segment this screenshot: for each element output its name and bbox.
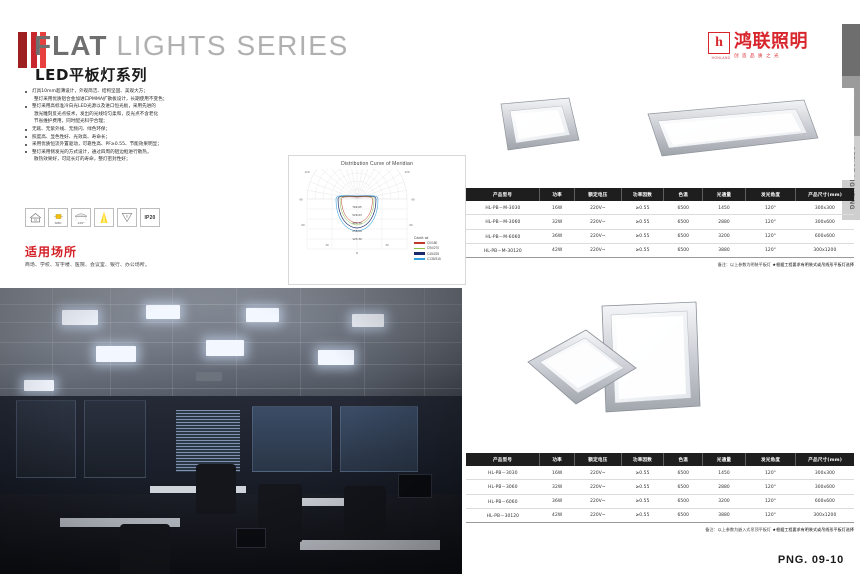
spec-icon-row: SMD 120° V IP20: [25, 208, 160, 227]
table-row: HL-PB－M-30120 42W 220V~ ≥0.55 6500 3880 …: [466, 244, 854, 258]
light-cone-icon: [94, 208, 114, 227]
col-model: 产品型号: [466, 188, 540, 201]
svg-text:762.65: 762.65: [352, 205, 362, 209]
logo-tagline: 创造品质之光: [734, 53, 808, 59]
feature-line-2: 散热效果好，可延长灯的寿命，整灯密封性好；: [32, 156, 272, 164]
col-power: 功率: [540, 188, 575, 201]
svg-text:30: 30: [325, 243, 329, 247]
table-row: HL-PB－M-6060 36W 220V~ ≥0.55 6500 3200 1…: [466, 229, 854, 243]
chart-unit-label: C/unit: cd: [414, 236, 460, 240]
cell-size: 600x600: [796, 494, 854, 508]
table-note: 备注：以上参数为明装平板灯 ★根据工程要求有明装式或吊线形平板灯选择: [466, 262, 854, 268]
cell-power: 36W: [540, 494, 575, 508]
feature-line-2: 整灯采用优质铝合金加进口PMMA扩散板设计，长期使用不变色；: [32, 96, 272, 104]
spec-table-top: 产品型号 功率 额定电压 功率因数 色温 光通量 发光角度 产品尺寸(mm) H…: [466, 188, 854, 268]
col-size: 产品尺寸(mm): [796, 453, 854, 466]
svg-text:123.30: 123.30: [352, 237, 362, 241]
table-header-row: 产品型号 功率 额定电压 功率因数 色温 光通量 发光角度 产品尺寸(mm): [466, 188, 854, 201]
cell-model: HL-PB－M-6060: [466, 229, 540, 243]
list-item: 灯具10mm超薄设计，外观简洁、结构坚固、美观大方； 整灯采用优质铝合金加进口P…: [24, 88, 272, 103]
chart-legend: C/unit: cd C0/180 C90/270 C45/225 C135/3…: [414, 236, 460, 262]
legend-swatch: [414, 248, 425, 250]
distribution-curve-chart: Distribution Curve of Meridian: [288, 155, 466, 285]
cell-cct: 6500: [664, 201, 703, 215]
table-row: HL-PB－6060 36W 220V~ ≥0.55 6500 3200 120…: [466, 494, 854, 508]
cell-cct: 6500: [664, 466, 703, 480]
office-interior-photo: HONLAND PRODUCT HANDBOOK WWW.HONLAND-LIG…: [0, 288, 462, 574]
page-number: PNG. 09-10: [778, 554, 844, 566]
cell-voltage: 220V~: [575, 509, 622, 523]
list-item: 整灯采用侧发光的方式设计，通过四周的铝边框进行散热， 散热效果好，可延长灯的寿命…: [24, 149, 272, 164]
spec-table-bottom: 产品型号 功率 额定电压 功率因数 色温 光通量 发光角度 产品尺寸(mm) H…: [466, 453, 854, 533]
cell-lumen: 1450: [703, 466, 746, 480]
col-voltage: 额定电压: [575, 188, 622, 201]
table-row: HL-PB－3060 32W 220V~ ≥0.55 6500 2880 120…: [466, 480, 854, 494]
col-pf: 功率因数: [621, 188, 664, 201]
cell-cct: 6500: [664, 480, 703, 494]
svg-text:403.30: 403.30: [352, 221, 362, 225]
feature-line-1: 无眩、无紫外线、无频闪、绿色环保；: [32, 127, 110, 132]
col-beam: 发光角度: [745, 188, 795, 201]
tab-top-block: [842, 24, 860, 76]
cell-power: 32W: [540, 215, 575, 229]
feature-line-1: 灯具10mm超薄设计，外观简洁、结构坚固、美观大方；: [32, 89, 148, 94]
feature-list: 灯具10mm超薄设计，外观简洁、结构坚固、美观大方； 整灯采用优质铝合金加进口P…: [24, 88, 272, 164]
cell-voltage: 220V~: [575, 480, 622, 494]
feature-line-1: 整灯采用侧发光的方式设计，通过四周的铝边框进行散热，: [32, 150, 151, 155]
col-power: 功率: [540, 453, 575, 466]
col-voltage: 额定电压: [575, 453, 622, 466]
cell-size: 300x600: [796, 215, 854, 229]
legend-item: C90/270: [414, 246, 460, 250]
cell-power: 36W: [540, 229, 575, 243]
note-label: 备注：: [718, 262, 730, 267]
product-image-middle: [466, 288, 854, 440]
cell-model: HL-PB－3060: [466, 480, 540, 494]
cell-lumen: 3200: [703, 229, 746, 243]
legend-swatch: [414, 252, 425, 254]
cell-pf: ≥0.55: [621, 244, 664, 258]
legend-label: C90/270: [427, 246, 439, 250]
cell-size: 300x1200: [796, 244, 854, 258]
lamp-beam-icon: 120°: [71, 208, 91, 227]
ip-rating-icon: IP20: [140, 208, 160, 227]
cell-size: 300x600: [796, 480, 854, 494]
cell-pf: ≥0.55: [621, 201, 664, 215]
legend-item: C45/225: [414, 252, 460, 256]
col-size: 产品尺寸(mm): [796, 188, 854, 201]
col-cct: 色温: [664, 188, 703, 201]
feature-line-1: 照度高、显色性好、光效高、寿命长；: [32, 135, 110, 140]
panel-lamp-renderings-middle: [466, 288, 854, 440]
table-row: HL-PB－30120 42W 220V~ ≥0.55 6500 3880 12…: [466, 509, 854, 523]
page-title-cn: LED平板灯系列: [35, 64, 147, 85]
product-image-top: [466, 88, 854, 180]
cell-voltage: 220V~: [575, 494, 622, 508]
cell-pf: ≥0.55: [621, 480, 664, 494]
col-lumen: 光通量: [703, 188, 746, 201]
svg-text:60: 60: [409, 223, 413, 227]
feature-line-1: 整灯采用高标准冷白光LED光源以及进口恒光板，采用先进的: [32, 104, 156, 109]
list-item: 照度高、显色性好、光效高、寿命长；: [24, 134, 272, 142]
cell-beam: 120°: [745, 466, 795, 480]
table-note: 备注：以上参数为嵌入式吊顶平板灯 ★根据工程要求有明装式或吊线形平板灯选择: [466, 527, 854, 533]
cell-beam: 120°: [745, 244, 795, 258]
cell-cct: 6500: [664, 244, 703, 258]
legend-item: C135/315: [414, 257, 460, 261]
svg-text:529.93: 529.93: [352, 213, 362, 217]
catalog-page: FLAT LIGHTS SERIES LED平板灯系列 灯具10mm超薄设计，外…: [0, 0, 860, 584]
note-star: ★根据工程要求有明装式或吊线形平板灯选择: [772, 262, 854, 267]
ip-rating-label: IP20: [144, 215, 155, 221]
svg-text:258.60: 258.60: [352, 229, 362, 233]
col-lumen: 光通量: [703, 453, 746, 466]
cell-power: 32W: [540, 480, 575, 494]
table: 产品型号 功率 额定电压 功率因数 色温 光通量 发光角度 产品尺寸(mm) H…: [466, 188, 854, 258]
chart-title: Distribution Curve of Meridian: [289, 161, 465, 167]
led-chip-icon: SMD: [48, 208, 68, 227]
cell-model: HL-PB－M-3030: [466, 201, 540, 215]
cell-power: 42W: [540, 244, 575, 258]
logo-text-block: 鸿联照明 创造品质之光: [734, 32, 808, 59]
cell-pf: ≥0.55: [621, 229, 664, 243]
svg-text:30: 30: [385, 243, 389, 247]
cell-cct: 6500: [664, 509, 703, 523]
svg-text:120: 120: [305, 170, 310, 174]
svg-text:V: V: [126, 214, 129, 218]
cell-pf: ≥0.55: [621, 509, 664, 523]
list-item: 整灯采用高标准冷白光LED光源以及进口恒光板，采用先进的 激光雕刻反光点技术，发…: [24, 103, 272, 126]
cell-cct: 6500: [664, 215, 703, 229]
cell-voltage: 220V~: [575, 244, 622, 258]
logo-mark-letter: h: [715, 36, 723, 50]
cell-lumen: 2880: [703, 480, 746, 494]
cell-model: HL-PB－6060: [466, 494, 540, 508]
table-row: HL-PB－M-3060 32W 220V~ ≥0.55 6500 2880 1…: [466, 215, 854, 229]
cell-model: HL-PB－30120: [466, 509, 540, 523]
list-item: 采用优质恒流外置驱动，可靠性高、PF≥0.55、节能效果明显；: [24, 141, 272, 149]
table: 产品型号 功率 额定电压 功率因数 色温 光通量 发光角度 产品尺寸(mm) H…: [466, 453, 854, 523]
legend-swatch: [414, 258, 425, 260]
note-text: 以上参数为明装平板灯: [730, 262, 771, 267]
cell-beam: 120°: [745, 480, 795, 494]
legend-label: C45/225: [427, 252, 439, 256]
logo-mark-caption: HONLAND: [709, 56, 733, 60]
feature-line-1: 采用优质恒流外置驱动，可靠性高、PF≥0.55、节能效果明显；: [32, 142, 162, 147]
square-panel-lamp: [501, 98, 579, 150]
svg-text:0: 0: [356, 251, 358, 255]
cell-lumen: 3200: [703, 494, 746, 508]
logo-name-cn: 鸿联照明: [734, 32, 808, 51]
svg-text:60: 60: [301, 223, 305, 227]
cell-model: HL-PB－M-3060: [466, 215, 540, 229]
cell-lumen: 3880: [703, 509, 746, 523]
ce-mark-icon: V: [117, 208, 137, 227]
led-chip-caption: SMD: [49, 221, 67, 225]
cell-beam: 120°: [745, 215, 795, 229]
cell-cct: 6500: [664, 494, 703, 508]
cell-pf: ≥0.55: [621, 466, 664, 480]
svg-text:90: 90: [299, 198, 303, 202]
rectangular-panel-lamp: [648, 100, 818, 156]
cell-power: 16W: [540, 466, 575, 480]
note-text: 以上参数为嵌入式吊顶平板灯: [718, 527, 771, 532]
cell-pf: ≥0.55: [621, 215, 664, 229]
feature-line-3: 节省维护费用，同时配光科学合理；: [32, 118, 272, 126]
cell-beam: 120°: [745, 201, 795, 215]
note-label: 备注：: [705, 527, 717, 532]
table-row: HL-PB－M-3030 16W 220V~ ≥0.55 6500 1450 1…: [466, 201, 854, 215]
photo-vignette: [0, 288, 462, 574]
house-icon: [25, 208, 45, 227]
legend-label: C135/315: [427, 257, 441, 261]
cell-size: 300x1200: [796, 509, 854, 523]
cell-voltage: 220V~: [575, 466, 622, 480]
cell-cct: 6500: [664, 229, 703, 243]
list-item: 无眩、无紫外线、无频闪、绿色环保；: [24, 126, 272, 134]
lamp-beam-caption: 120°: [72, 221, 90, 225]
cell-beam: 120°: [745, 494, 795, 508]
cell-voltage: 220V~: [575, 229, 622, 243]
col-pf: 功率因数: [621, 453, 664, 466]
panel-lamp-renderings: [466, 88, 854, 180]
col-model: 产品型号: [466, 453, 540, 466]
note-star: ★根据工程要求有明装式或吊线形平板灯选择: [772, 527, 854, 532]
legend-label: C0/180: [427, 241, 437, 245]
cell-voltage: 220V~: [575, 201, 622, 215]
legend-swatch: [414, 242, 425, 244]
chart-plot: 762.65 529.93 403.30 258.60 123.30 180 1…: [293, 169, 421, 275]
legend-item: C0/180: [414, 241, 460, 245]
cell-lumen: 2880: [703, 215, 746, 229]
feature-line-2: 激光雕刻反光点技术，发出的光线均匀柔和，反光点不含老化: [32, 111, 272, 119]
cell-size: 600x600: [796, 229, 854, 243]
cell-lumen: 3880: [703, 244, 746, 258]
cell-size: 300x300: [796, 466, 854, 480]
cell-beam: 120°: [745, 509, 795, 523]
title-word-flat: FLAT: [34, 30, 107, 61]
svg-text:90: 90: [411, 198, 415, 202]
cell-model: HL-PB－3030: [466, 466, 540, 480]
table-header-row: 产品型号 功率 额定电压 功率因数 色温 光通量 发光角度 产品尺寸(mm): [466, 453, 854, 466]
cell-size: 300x300: [796, 201, 854, 215]
application-text: 商场、学校、写字楼、医院、会议室、银行、办公场所。: [25, 261, 255, 268]
cell-pf: ≥0.55: [621, 494, 664, 508]
brand-logo: h HONLAND 鸿联照明 创造品质之光: [708, 32, 808, 59]
cell-model: HL-PB－M-30120: [466, 244, 540, 258]
cell-lumen: 1450: [703, 201, 746, 215]
table-row: HL-PB－3030 16W 220V~ ≥0.55 6500 1450 120…: [466, 466, 854, 480]
col-beam: 发光角度: [745, 453, 795, 466]
title-word-lights-series: LIGHTS SERIES: [116, 30, 348, 61]
page-title-en: FLAT LIGHTS SERIES: [34, 30, 349, 62]
application-title: 适用场所: [25, 243, 77, 260]
cell-beam: 120°: [745, 229, 795, 243]
honland-mark-icon: h HONLAND: [708, 32, 730, 54]
cell-power: 42W: [540, 509, 575, 523]
cell-voltage: 220V~: [575, 215, 622, 229]
cell-power: 16W: [540, 201, 575, 215]
svg-text:120: 120: [405, 170, 410, 174]
col-cct: 色温: [664, 453, 703, 466]
